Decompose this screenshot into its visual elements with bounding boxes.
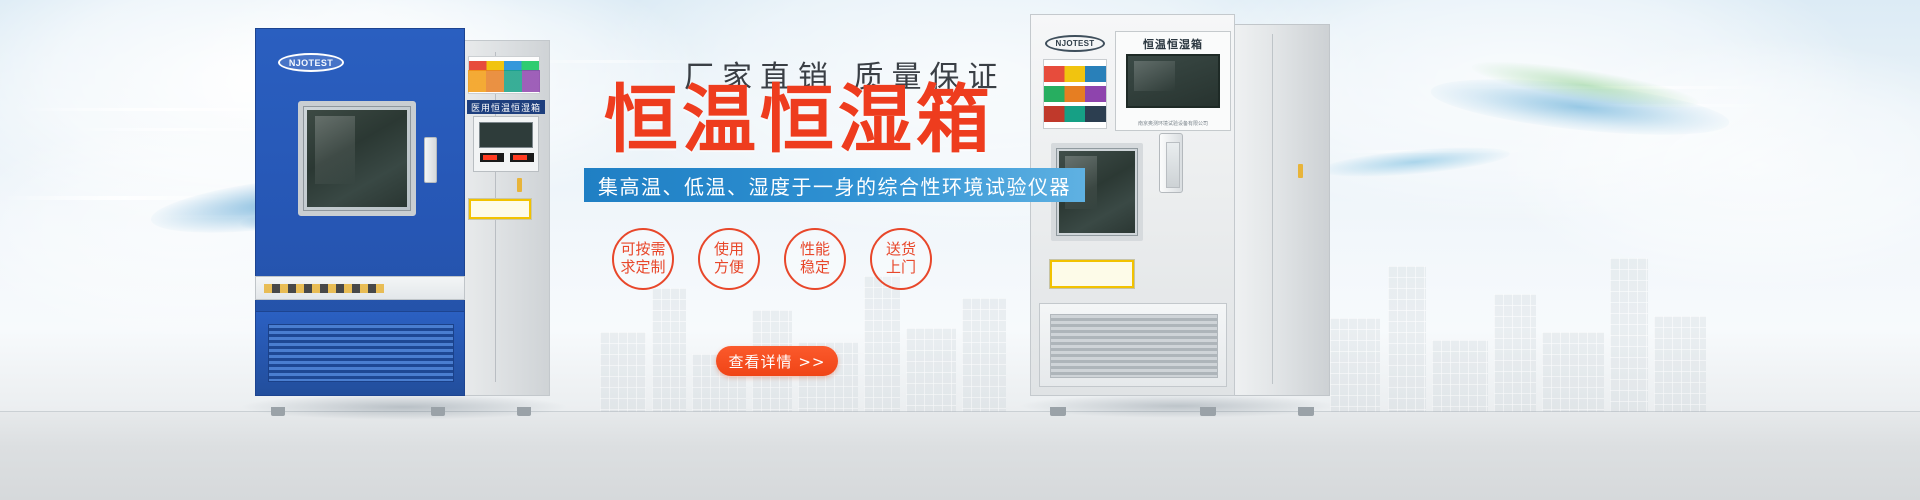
feature-badge-custom[interactable]: 可按需 求定制 (612, 228, 674, 290)
cabinet-indicator (517, 178, 522, 192)
cloud-decoration (1500, 40, 1920, 290)
warning-label-sticker (468, 70, 540, 92)
control-panel (473, 116, 539, 172)
feature-line-2: 稳定 (800, 259, 830, 277)
view-details-button[interactable]: 查看详情 >> (716, 346, 838, 376)
cloud-streak-decoration (1520, 104, 1770, 107)
feature-line-2: 求定制 (620, 259, 665, 277)
cloud-streak-decoration (0, 196, 250, 200)
cloud-streak-decoration (70, 128, 280, 131)
feature-badge-easy-to-use[interactable]: 使用 方便 (698, 228, 760, 290)
feature-line-2: 方便 (714, 259, 744, 277)
page-title: 恒温恒湿箱 (604, 83, 994, 157)
led-readout (510, 153, 534, 162)
subtitle-bar: 集高温、低温、湿度于一身的综合性环境试验仪器 (584, 168, 1085, 202)
feature-line-1: 可按需 (620, 241, 665, 259)
cabinet-foot (271, 407, 285, 416)
feature-badge-delivery[interactable]: 送货 上门 (870, 228, 932, 290)
caution-tag (468, 198, 532, 220)
cabinet-foot (517, 407, 531, 416)
feature-line-1: 使用 (714, 241, 744, 259)
product-image-left-chamber: 医用恒温恒湿箱 NJOTEST (255, 28, 550, 408)
blue-swash-decoration (1428, 68, 1731, 145)
cloud-streak-decoration (1440, 86, 1770, 89)
door-handle (424, 137, 437, 183)
feature-line-2: 上门 (886, 259, 916, 277)
green-swash-decoration (1469, 52, 1701, 118)
feature-badge-stable-performance[interactable]: 性能 稳定 (784, 228, 846, 290)
feature-line-1: 性能 (800, 241, 830, 259)
ventilation-grille (268, 324, 454, 382)
feature-badge-list: 可按需 求定制 使用 方便 性能 稳定 送货 上门 (612, 228, 932, 290)
marketing-copy-block: 厂家直销 质量保证 恒温恒湿箱 集高温、低温、湿度于一身的综合性环境试验仪器 可… (576, 0, 1396, 500)
hmi-screen (479, 122, 533, 148)
cabinet-label: 医用恒温恒湿箱 (467, 100, 545, 114)
subtitle-text: 集高温、低温、湿度于一身的综合性环境试验仪器 (598, 171, 1071, 200)
cabinet-lower-section (255, 311, 465, 396)
lower-trim-strip (255, 276, 465, 300)
window-glass (307, 110, 407, 207)
brand-logo-badge: NJOTEST (278, 53, 344, 72)
led-readout (480, 153, 504, 162)
feature-line-1: 送货 (886, 241, 916, 259)
product-promo-banner: 医用恒温恒湿箱 NJOTEST NJOTEST (0, 0, 1920, 500)
viewing-window (298, 101, 416, 216)
cabinet-foot (431, 407, 445, 416)
